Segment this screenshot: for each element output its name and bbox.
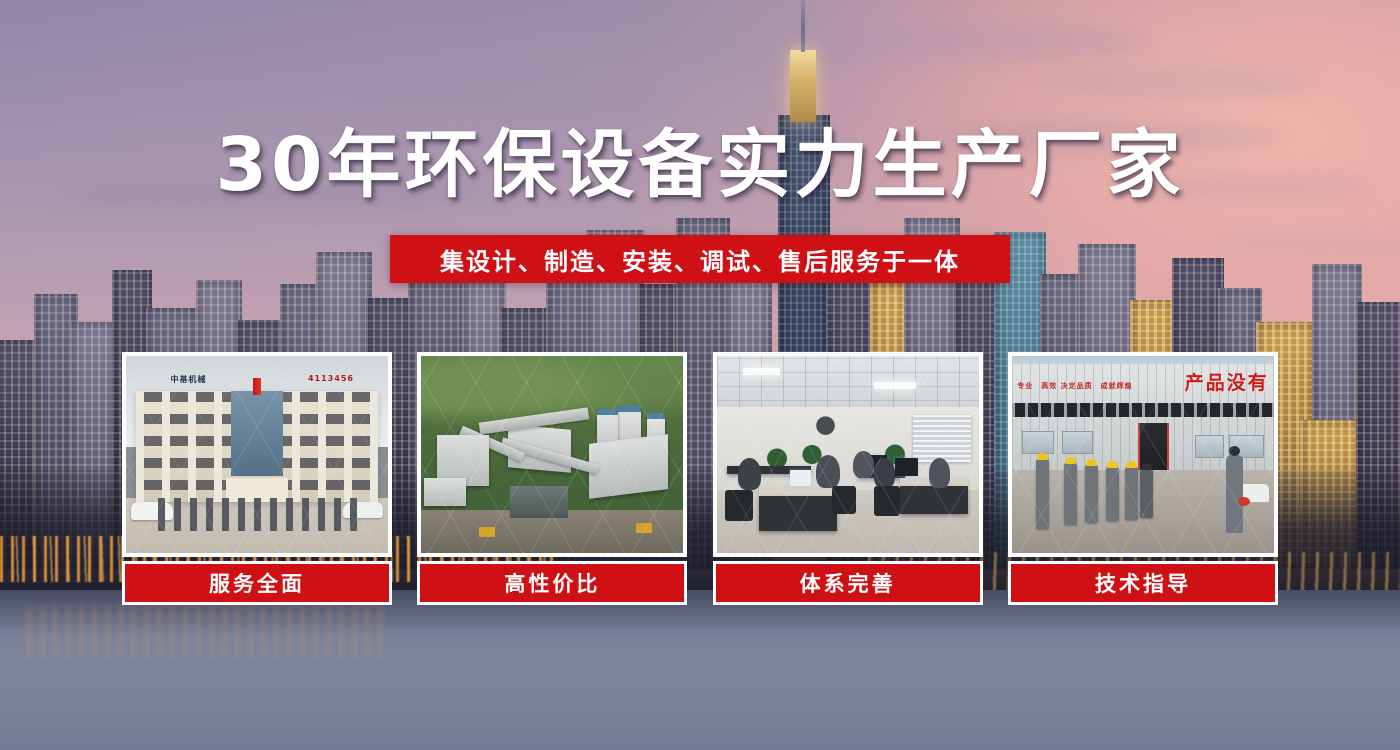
factory-sign-text: 产品没有 [1185, 368, 1269, 395]
wall-decal [811, 415, 840, 443]
feature-card[interactable]: 体系完善 [713, 352, 983, 605]
red-helmet-icon [1238, 497, 1250, 506]
card-caption: 服务全面 [122, 561, 392, 605]
feature-card[interactable]: 中基机械 4113456 服务全面 [122, 352, 392, 605]
page-title: 30年环保设备实力生产厂家 [0, 128, 1400, 202]
feature-card[interactable]: 产品没有 专业 高效 决定品质 成就辉煌 [1008, 352, 1278, 605]
tower-spire [801, 0, 805, 52]
worker-training-photo: 产品没有 专业 高效 决定品质 成就辉煌 [1008, 352, 1278, 557]
card-caption: 高性价比 [417, 561, 687, 605]
feature-card-list: 中基机械 4113456 服务全面 [122, 352, 1278, 605]
card-caption: 体系完善 [713, 561, 983, 605]
flag-icon [253, 378, 261, 396]
company-headquarters-photo: 中基机械 4113456 [122, 352, 392, 557]
window-blinds [913, 415, 971, 462]
aerial-plant-photo [417, 352, 687, 557]
banner-stage: 30年环保设备实力生产厂家 集设计、制造、安装、调试、售后服务于一体 中基机械 [0, 0, 1400, 750]
tower-crown [790, 50, 816, 122]
factory-slogan-text: 专业 高效 决定品质 成就辉煌 [1017, 382, 1132, 391]
subtitle-banner: 集设计、制造、安装、调试、售后服务于一体 [390, 235, 1010, 283]
card-caption: 技术指导 [1008, 561, 1278, 605]
office-interior-photo [713, 352, 983, 557]
river-reflection [28, 606, 392, 658]
feature-card[interactable]: 高性价比 [417, 352, 687, 605]
staff-lineup [155, 498, 359, 531]
building-sign-text: 中基机械 [171, 374, 207, 385]
building-phone-text: 4113456 [308, 374, 354, 383]
